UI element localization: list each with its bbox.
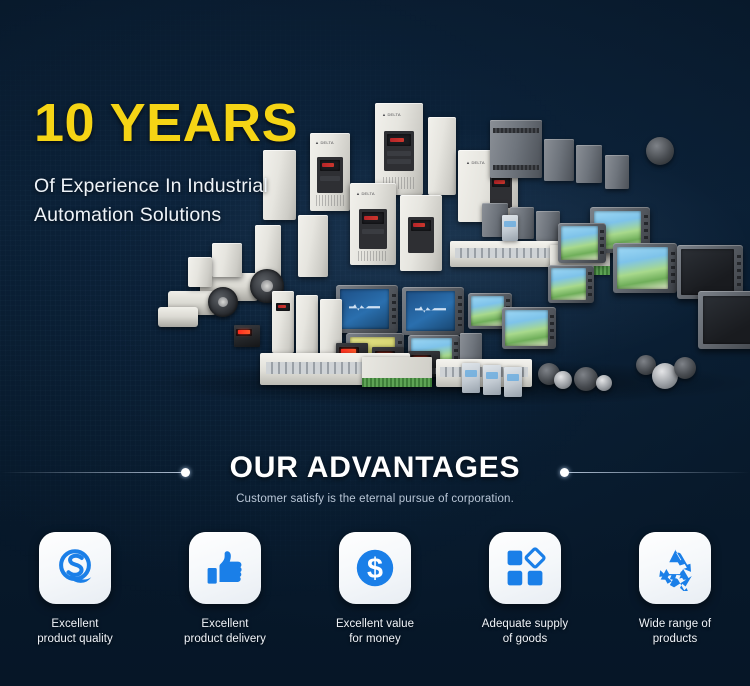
hero-subtitle: Of Experience In Industrial Automation S…	[34, 172, 364, 230]
brand-logo: ▲ DELTA	[382, 112, 401, 117]
hmi-screen-dopb	[340, 289, 389, 329]
hero-copy-block: 10 YEARS Of Experience In Industrial Aut…	[34, 96, 364, 230]
hero-subtitle-line-2: Automation Solutions	[34, 201, 364, 230]
terminal-strip	[493, 165, 539, 170]
advantage-label: Wide range of products	[639, 617, 711, 646]
advantage-icon-card[interactable]: $	[339, 532, 411, 604]
hmi-screen	[703, 296, 750, 344]
section-heading-block: OUR ADVANTAGES Customer satisfy is the e…	[0, 452, 750, 505]
vfd-display	[387, 134, 411, 146]
advantages-list: Excellent product quality Excellent prod…	[0, 532, 750, 646]
hmi-panel-dopb	[402, 287, 464, 335]
drive-display	[276, 303, 290, 311]
section-title: OUR ADVANTAGES	[0, 452, 750, 484]
hmi-panel-dopb	[336, 285, 398, 333]
hmi-bezel-buttons	[458, 296, 462, 327]
advantage-icon-card[interactable]	[489, 532, 561, 604]
vfd-drive: ▲ DELTA	[375, 103, 423, 195]
hmi-screen	[505, 310, 548, 346]
hmi-panel	[502, 307, 556, 349]
hmi-screen	[617, 247, 668, 289]
vfd-display	[411, 220, 431, 231]
servo-motor	[158, 307, 198, 327]
compact-drive	[188, 257, 212, 287]
vfd-display	[492, 177, 510, 187]
hmi-bezel-buttons	[550, 315, 554, 342]
advantage-label: Excellent value for money	[336, 617, 414, 646]
gearbox-part	[646, 137, 674, 165]
hmi-bezel-buttons	[644, 215, 648, 244]
relay-module	[504, 367, 522, 397]
advantage-label: Excellent product delivery	[184, 617, 266, 646]
led-display	[236, 329, 252, 336]
compact-drive	[212, 243, 242, 277]
dollar-circle-icon: $	[352, 545, 398, 591]
plc-module	[544, 139, 574, 181]
hmi-screen-dopb	[406, 291, 455, 331]
vfd-vent-grill	[358, 251, 388, 261]
brand-logo: ▲ DELTA	[466, 160, 485, 165]
relay-module	[483, 365, 501, 395]
plc-module	[490, 120, 542, 178]
hmi-bezel-buttons	[392, 294, 396, 325]
servo-drive	[296, 295, 318, 355]
recycle-icon	[652, 545, 698, 591]
advantage-item-product-quality[interactable]: Excellent product quality	[0, 532, 150, 646]
hmi-bezel-buttons	[671, 252, 675, 284]
years-headline: 10 YEARS	[34, 96, 364, 150]
hmi-screen	[471, 296, 504, 326]
vfd-display	[362, 212, 384, 224]
terminal-strip	[493, 128, 539, 133]
advantage-icon-card[interactable]	[39, 532, 111, 604]
relay-module	[462, 363, 480, 393]
advantage-item-wide-range[interactable]: Wide range of products	[600, 532, 750, 646]
encoder-part	[674, 357, 696, 379]
hmi-panel	[613, 243, 677, 293]
advantage-label: Adequate supply of goods	[482, 617, 568, 646]
servo-motor-face	[208, 287, 238, 317]
hmi-screen	[551, 268, 586, 300]
encoder-part	[596, 375, 612, 391]
hmi-screen	[561, 226, 598, 260]
vfd-drive	[400, 195, 442, 271]
grid-squares-icon	[503, 546, 547, 590]
plc-module	[576, 145, 602, 183]
relay-module	[502, 215, 518, 241]
contactor-block	[536, 211, 560, 241]
svg-text:$: $	[367, 553, 383, 585]
io-terminal-module	[362, 357, 432, 387]
hmi-bezel-buttons	[588, 272, 592, 296]
panel-meter	[234, 325, 260, 347]
advantage-label: Excellent product quality	[37, 617, 113, 646]
hmi-panel-large	[698, 291, 750, 349]
vfd-button-row	[362, 229, 384, 234]
advantage-item-value-for-money[interactable]: $ Excellent value for money	[300, 532, 450, 646]
hmi-bezel-buttons	[600, 230, 604, 256]
thumbs-up-icon	[203, 546, 247, 590]
hmi-bezel-buttons	[737, 255, 741, 290]
advantage-icon-card[interactable]	[189, 532, 261, 604]
advantage-item-adequate-supply[interactable]: Adequate supply of goods	[450, 532, 600, 646]
vfd-drive	[428, 117, 456, 195]
hmi-panel	[548, 265, 594, 303]
hmi-panel	[558, 223, 606, 263]
servo-drive	[272, 291, 294, 353]
vfd-button-row	[387, 159, 411, 164]
hmi-screen	[681, 249, 734, 295]
encoder-part	[574, 367, 598, 391]
promo-banner: 10 YEARS Of Experience In Industrial Aut…	[0, 0, 750, 686]
advantage-icon-card[interactable]	[639, 532, 711, 604]
section-subtitle: Customer satisfy is the eternal pursue o…	[0, 493, 750, 505]
hero-subtitle-line-1: Of Experience In Industrial	[34, 172, 364, 201]
advantage-item-product-delivery[interactable]: Excellent product delivery	[150, 532, 300, 646]
vfd-button-row	[387, 151, 411, 156]
encoder-part	[554, 371, 572, 389]
plc-module	[605, 155, 629, 189]
quality-seal-icon	[52, 545, 98, 591]
